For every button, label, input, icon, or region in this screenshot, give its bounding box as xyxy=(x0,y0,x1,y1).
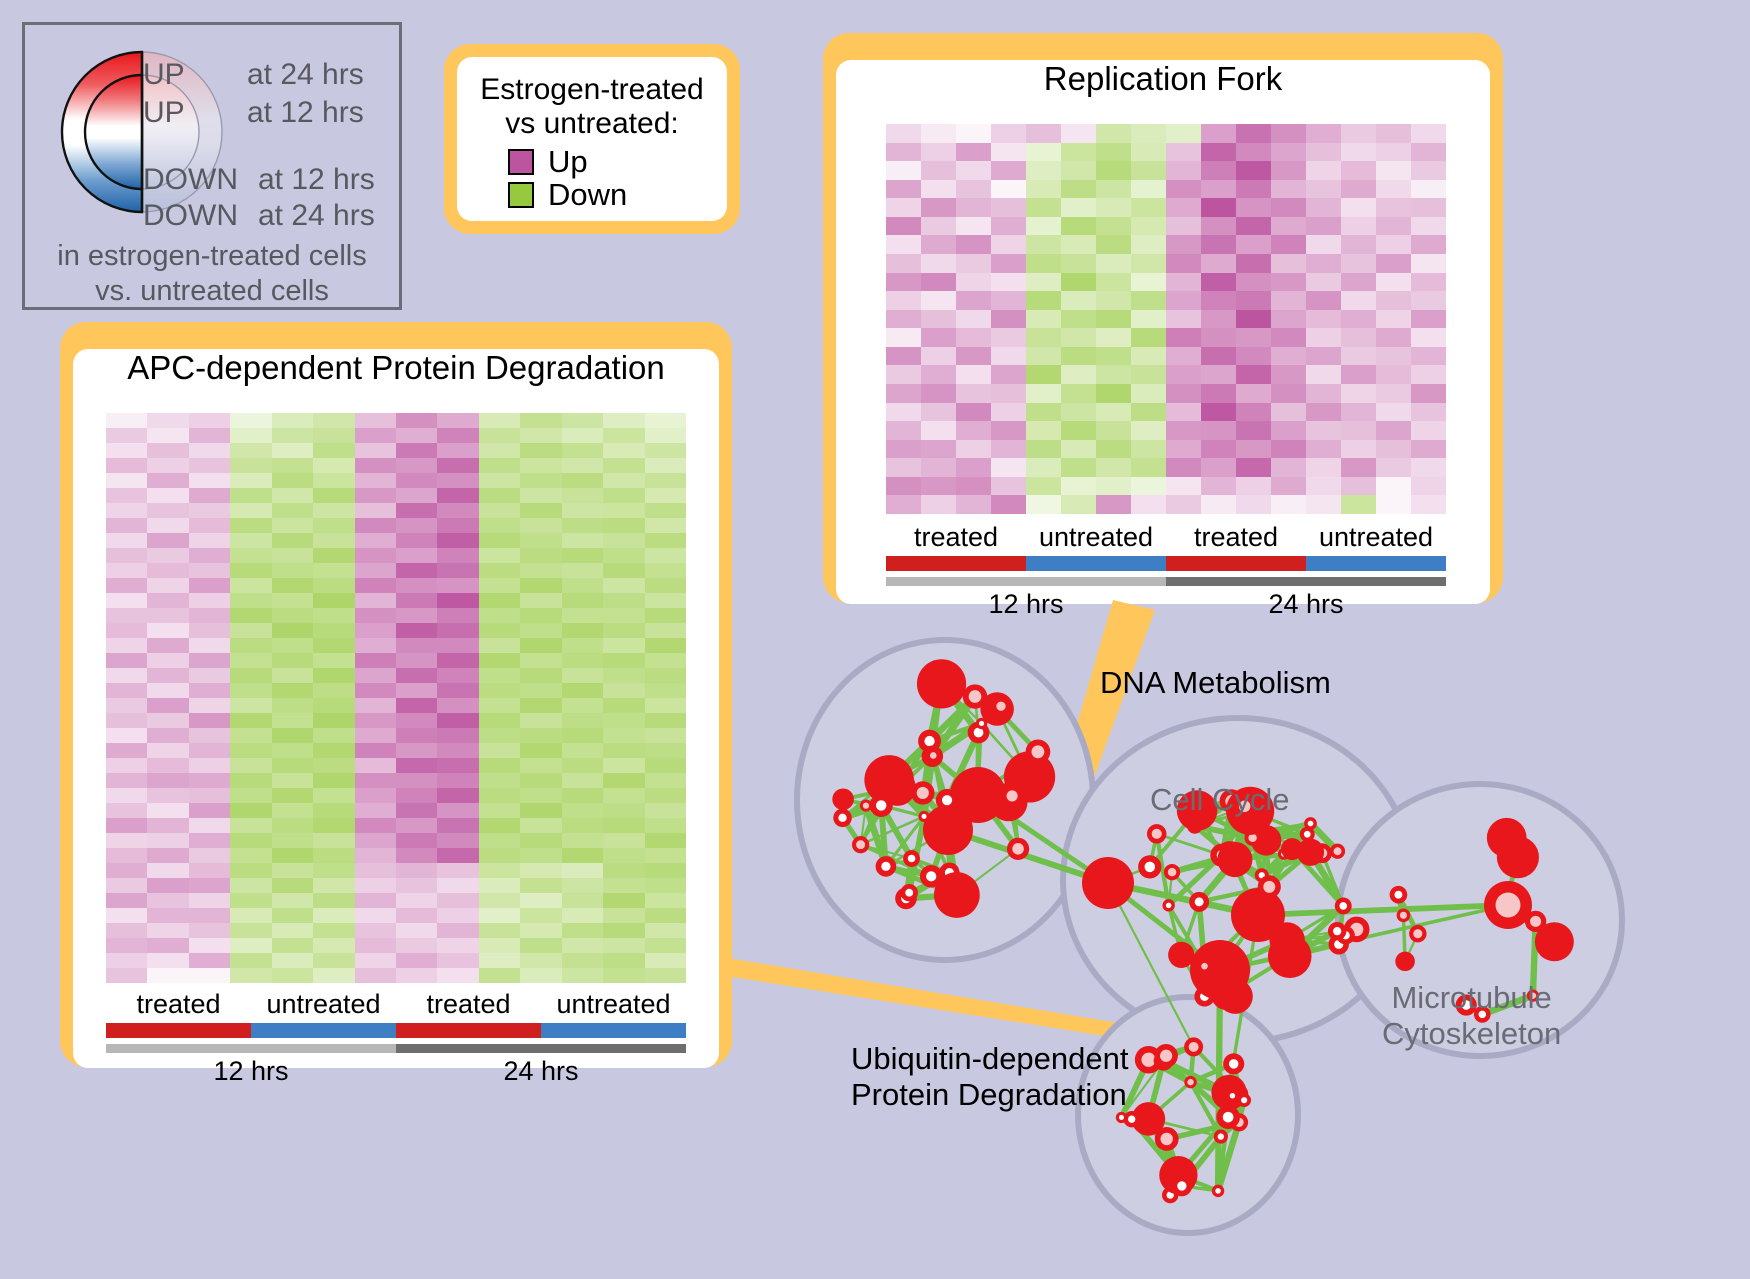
heatmap-cell xyxy=(106,788,147,803)
heatmap-cell xyxy=(272,533,313,548)
heatmap-cell xyxy=(1306,384,1341,403)
heatmap-cell xyxy=(437,488,478,503)
network-node[interactable] xyxy=(1189,892,1209,912)
heatmap-cell xyxy=(1026,254,1061,273)
heatmap-cell xyxy=(562,443,603,458)
heatmap-cell xyxy=(230,428,271,443)
network-node[interactable] xyxy=(1082,857,1134,909)
heatmap-cell xyxy=(147,683,188,698)
heatmap-cell xyxy=(645,953,686,968)
network-node[interactable] xyxy=(936,789,959,812)
network-node[interactable] xyxy=(879,769,916,806)
network-node[interactable] xyxy=(976,718,987,729)
network-node[interactable] xyxy=(917,659,966,708)
heatmap-cell xyxy=(562,593,603,608)
heatmap-cell xyxy=(562,488,603,503)
heatmap-cell xyxy=(272,938,313,953)
heatmap-cell xyxy=(189,413,230,428)
heatmap-cell xyxy=(355,608,396,623)
heatmap-cell xyxy=(313,413,354,428)
network-node[interactable] xyxy=(918,811,929,822)
network-node[interactable] xyxy=(1281,838,1303,860)
heatmap-cell xyxy=(437,938,478,953)
heatmap-cell xyxy=(479,728,520,743)
network-node[interactable] xyxy=(876,856,897,877)
heatmap-cell xyxy=(313,668,354,683)
heatmap-cell xyxy=(396,428,437,443)
legend-title-line1: Estrogen-treated xyxy=(457,73,727,107)
heatmap-cell xyxy=(886,198,921,217)
network-node[interactable] xyxy=(1147,824,1166,843)
heatmap-cell xyxy=(886,180,921,199)
heatmap-cell xyxy=(1236,124,1271,143)
network-node[interactable] xyxy=(1155,1127,1179,1151)
network-node[interactable] xyxy=(1026,739,1051,764)
apc-treatment-labels: treateduntreatedtreateduntreated xyxy=(106,989,686,1020)
heatmap-cell xyxy=(645,818,686,833)
heatmap-cell xyxy=(147,893,188,908)
heatmap-cell xyxy=(603,743,644,758)
heatmap-cell xyxy=(189,443,230,458)
heatmap-cell xyxy=(1026,291,1061,310)
heatmap-cell xyxy=(396,728,437,743)
heatmap-cell xyxy=(1131,273,1166,292)
heatmap-cell xyxy=(1166,458,1201,477)
network-node[interactable] xyxy=(1164,864,1180,880)
heatmap-cell xyxy=(396,743,437,758)
heatmap-cell xyxy=(603,818,644,833)
network-node[interactable] xyxy=(1154,1044,1178,1068)
heatmap-cell xyxy=(437,713,478,728)
network-node[interactable] xyxy=(1007,838,1029,860)
heatmap-cell xyxy=(1131,347,1166,366)
heatmap-cell xyxy=(437,458,478,473)
heatmap-cell xyxy=(886,328,921,347)
heatmap-cell xyxy=(1411,310,1446,329)
heatmap-cell xyxy=(1271,384,1306,403)
heatmap-cell xyxy=(189,803,230,818)
heatmap-cell xyxy=(562,848,603,863)
heatmap-cell xyxy=(603,728,644,743)
heatmap-cell xyxy=(355,638,396,653)
wheel-row-3-time: at 24 hrs xyxy=(258,199,375,233)
heatmap-cell xyxy=(886,310,921,329)
heatmap-cell xyxy=(437,743,478,758)
network-node[interactable] xyxy=(1395,952,1415,972)
heatmap-cell xyxy=(479,653,520,668)
heatmap-cell xyxy=(603,863,644,878)
heatmap-cell xyxy=(520,923,561,938)
network-node[interactable] xyxy=(1328,922,1346,940)
heatmap-cell xyxy=(562,803,603,818)
heatmap-cell xyxy=(479,938,520,953)
heatmap-cell xyxy=(1166,124,1201,143)
heatmap-cell xyxy=(645,893,686,908)
heatmap-cell xyxy=(189,503,230,518)
heatmap-cell xyxy=(189,473,230,488)
network-node[interactable] xyxy=(832,788,854,810)
heatmap-cell xyxy=(520,968,561,983)
heatmap-cell xyxy=(991,124,1026,143)
heatmap-cell xyxy=(520,953,561,968)
heatmap-cell xyxy=(645,713,686,728)
heatmap-cell xyxy=(147,803,188,818)
legend-swatch-down-icon xyxy=(508,182,534,208)
heatmap-cell xyxy=(1236,458,1271,477)
heatmap-cell xyxy=(886,235,921,254)
cluster-label-cell-cycle: Cell Cycle xyxy=(1150,782,1290,818)
heatmap-cell xyxy=(1096,217,1131,236)
heatmap-cell xyxy=(396,968,437,983)
network-node[interactable] xyxy=(1226,1090,1238,1102)
heatmap-cell xyxy=(1061,477,1096,496)
network-node[interactable] xyxy=(1214,1130,1228,1144)
heatmap-cell xyxy=(396,548,437,563)
heatmap-cell xyxy=(147,908,188,923)
network-node[interactable] xyxy=(1216,1105,1240,1129)
time-label: 24 hrs xyxy=(396,1056,686,1087)
heatmap-cell xyxy=(991,143,1026,162)
heatmap-cell xyxy=(230,593,271,608)
heatmap-cell xyxy=(230,638,271,653)
heatmap-cell xyxy=(1376,440,1411,459)
heatmap-cell xyxy=(1061,180,1096,199)
time-label: 12 hrs xyxy=(106,1056,396,1087)
heatmap-cell xyxy=(603,848,644,863)
network-node[interactable] xyxy=(1116,1112,1127,1123)
heatmap-cell xyxy=(272,593,313,608)
heatmap-cell xyxy=(1096,124,1131,143)
heatmap-cell xyxy=(1236,310,1271,329)
heatmap-cell xyxy=(147,653,188,668)
heatmap-cell xyxy=(645,533,686,548)
heatmap-cell xyxy=(645,803,686,818)
heatmap-cell xyxy=(1131,198,1166,217)
network-node[interactable] xyxy=(1198,960,1211,973)
heatmap-cell xyxy=(1201,235,1236,254)
heatmap-cell xyxy=(1096,180,1131,199)
heatmap-cell xyxy=(230,533,271,548)
heatmap-cell xyxy=(886,143,921,162)
heatmap-cell xyxy=(479,578,520,593)
network-node[interactable] xyxy=(927,749,940,762)
heatmap-cell xyxy=(562,518,603,533)
heatmap-cell xyxy=(886,347,921,366)
network-node[interactable] xyxy=(1217,842,1252,877)
heatmap-cell xyxy=(1061,310,1096,329)
heatmap-cell xyxy=(106,878,147,893)
heatmap-cell xyxy=(313,953,354,968)
network-node[interactable] xyxy=(1390,886,1408,904)
network-node[interactable] xyxy=(901,884,918,901)
network-node[interactable] xyxy=(992,697,1010,715)
heatmap-cell xyxy=(1201,328,1236,347)
heatmap-cell xyxy=(1271,198,1306,217)
network-node[interactable] xyxy=(1001,785,1022,806)
heatmap-cell xyxy=(645,683,686,698)
heatmap-cell xyxy=(106,863,147,878)
network-node[interactable] xyxy=(1138,855,1161,878)
heatmap-cell xyxy=(645,908,686,923)
heatmap-cell xyxy=(355,683,396,698)
heatmap-cell xyxy=(1201,291,1236,310)
heatmap-cell xyxy=(230,908,271,923)
heatmap-cell xyxy=(355,953,396,968)
network-node[interactable] xyxy=(1184,1037,1203,1056)
heatmap-cell xyxy=(1236,328,1271,347)
heatmap-cell xyxy=(147,548,188,563)
heatmap-cell xyxy=(189,578,230,593)
network-node[interactable] xyxy=(963,684,987,708)
heatmap-cell xyxy=(1201,254,1236,273)
updown-legend-panel: Estrogen-treated vs untreated: Up Down xyxy=(444,44,740,234)
heatmap-cell xyxy=(272,713,313,728)
heatmap-cell xyxy=(147,863,188,878)
heatmap-cell xyxy=(1236,495,1271,514)
network-node[interactable] xyxy=(1212,1185,1224,1197)
heatmap-cell xyxy=(437,533,478,548)
heatmap-cell xyxy=(1306,161,1341,180)
heatmap-cell xyxy=(396,923,437,938)
heatmap-cell xyxy=(520,413,561,428)
network-node[interactable] xyxy=(1487,818,1527,858)
heatmap-cell xyxy=(147,428,188,443)
heatmap-cell xyxy=(313,833,354,848)
heatmap-cell xyxy=(272,608,313,623)
network-node[interactable] xyxy=(1237,1093,1251,1107)
heatmap-cell xyxy=(956,161,991,180)
heatmap-cell xyxy=(645,473,686,488)
heatmap-cell xyxy=(272,683,313,698)
heatmap-cell xyxy=(1061,273,1096,292)
heatmap-cell xyxy=(1026,198,1061,217)
wheel-row-2-time: at 12 hrs xyxy=(258,163,375,197)
network-node[interactable] xyxy=(923,805,973,855)
heatmap-cell xyxy=(272,413,313,428)
heatmap-cell xyxy=(1341,421,1376,440)
heatmap-cell xyxy=(1306,310,1341,329)
treatment-bar-segment xyxy=(106,1023,251,1038)
heatmap-cell xyxy=(479,668,520,683)
heatmap-cell xyxy=(1166,328,1201,347)
heatmap-cell xyxy=(886,384,921,403)
heatmap-cell xyxy=(645,578,686,593)
heatmap-cell xyxy=(1201,477,1236,496)
wheel-row-0-direction: UP xyxy=(143,58,185,92)
network-node[interactable] xyxy=(1168,942,1194,968)
heatmap-cell xyxy=(479,893,520,908)
heatmap-cell xyxy=(1061,421,1096,440)
heatmap-cell xyxy=(956,217,991,236)
wheel-row-1-direction: UP xyxy=(143,96,185,130)
heatmap-cell xyxy=(189,923,230,938)
heatmap-cell xyxy=(1411,477,1446,496)
heatmap-cell xyxy=(396,713,437,728)
heatmap-cell xyxy=(1201,347,1236,366)
treatment-label: treated xyxy=(886,522,1026,553)
heatmap-cell xyxy=(562,833,603,848)
heatmap-cell xyxy=(886,440,921,459)
heatmap-cell xyxy=(355,473,396,488)
network-node[interactable] xyxy=(934,872,980,918)
heatmap-cell xyxy=(106,488,147,503)
heatmap-cell xyxy=(313,683,354,698)
heatmap-cell xyxy=(437,623,478,638)
heatmap-cell xyxy=(991,347,1026,366)
heatmap-cell xyxy=(272,638,313,653)
heatmap-cell xyxy=(1306,403,1341,422)
heatmap-cell xyxy=(562,653,603,668)
heatmap-cell xyxy=(396,683,437,698)
heatmap-cell xyxy=(1271,291,1306,310)
heatmap-cell xyxy=(313,593,354,608)
heatmap-cell xyxy=(230,803,271,818)
heatmap-cell xyxy=(1201,421,1236,440)
heatmap-cell xyxy=(886,421,921,440)
heatmap-cell xyxy=(230,758,271,773)
heatmap-cell xyxy=(189,953,230,968)
network-node[interactable] xyxy=(1258,875,1281,898)
heatmap-cell xyxy=(921,254,956,273)
heatmap-cell xyxy=(956,254,991,273)
heatmap-cell xyxy=(355,923,396,938)
network-node[interactable] xyxy=(1184,1076,1196,1088)
heatmap-cell xyxy=(1131,161,1166,180)
heatmap-cell xyxy=(106,698,147,713)
heatmap-cell xyxy=(1026,440,1061,459)
heatmap-cell xyxy=(147,713,188,728)
heatmap-cell xyxy=(230,473,271,488)
heatmap-cell xyxy=(991,365,1026,384)
heatmap-cell xyxy=(921,347,956,366)
heatmap-cell xyxy=(313,908,354,923)
network-node[interactable] xyxy=(833,809,852,828)
heatmap-cell xyxy=(106,458,147,473)
heatmap-cell xyxy=(603,533,644,548)
heatmap-cell xyxy=(437,908,478,923)
network-node[interactable] xyxy=(1330,844,1345,859)
heatmap-cell xyxy=(645,548,686,563)
heatmap-cell xyxy=(1201,384,1236,403)
heatmap-cell xyxy=(1061,458,1096,477)
heatmap-cell xyxy=(272,563,313,578)
heatmap-cell xyxy=(396,518,437,533)
network-node[interactable] xyxy=(903,850,920,867)
network-node[interactable] xyxy=(1223,1053,1244,1074)
heatmap-cell xyxy=(1131,421,1166,440)
heatmap-cell xyxy=(479,818,520,833)
network-node[interactable] xyxy=(1535,922,1574,961)
heatmap-cell xyxy=(921,161,956,180)
heatmap-cell xyxy=(437,593,478,608)
heatmap-cell xyxy=(437,653,478,668)
heatmap-cell xyxy=(230,848,271,863)
heatmap-cell xyxy=(313,713,354,728)
heatmap-cell xyxy=(1376,161,1411,180)
heatmap-cell xyxy=(1376,180,1411,199)
heatmap-cell xyxy=(355,968,396,983)
heatmap-cell xyxy=(1166,365,1201,384)
network-node[interactable] xyxy=(852,836,869,853)
heatmap-cell xyxy=(645,653,686,668)
heatmap-cell xyxy=(396,893,437,908)
heatmap-cell xyxy=(1411,124,1446,143)
network-node[interactable] xyxy=(1409,925,1426,942)
heatmap-cell xyxy=(603,908,644,923)
heatmap-cell xyxy=(1411,291,1446,310)
network-node[interactable] xyxy=(1162,899,1174,911)
heatmap-cell xyxy=(956,273,991,292)
network-node[interactable] xyxy=(1397,908,1411,922)
heatmap-cell xyxy=(147,833,188,848)
heatmap-cell xyxy=(645,668,686,683)
heatmap-cell xyxy=(1376,291,1411,310)
heatmap-cell xyxy=(1341,328,1376,347)
heatmap-cell xyxy=(1096,254,1131,273)
heatmap-cell xyxy=(645,563,686,578)
network-node[interactable] xyxy=(1218,979,1253,1014)
heatmap-cell xyxy=(603,443,644,458)
network-node[interactable] xyxy=(1171,1175,1192,1196)
heatmap-cell xyxy=(1166,217,1201,236)
network-node[interactable] xyxy=(1335,897,1352,914)
heatmap-cell xyxy=(396,608,437,623)
heatmap-cell xyxy=(355,578,396,593)
heatmap-cell xyxy=(1341,477,1376,496)
heatmap-cell xyxy=(1061,495,1096,514)
network-node[interactable] xyxy=(1484,881,1532,929)
time-bar-segment xyxy=(106,1044,396,1053)
treatment-bar-segment xyxy=(886,556,1026,571)
heatmap-cell xyxy=(645,638,686,653)
heatmap-cell xyxy=(1341,254,1376,273)
heatmap-cell xyxy=(1166,254,1201,273)
heatmap-cell xyxy=(313,503,354,518)
heatmap-cell xyxy=(603,683,644,698)
treatment-label: untreated xyxy=(541,989,686,1020)
heatmap-cell xyxy=(1026,477,1061,496)
heatmap-cell xyxy=(437,773,478,788)
network-node[interactable] xyxy=(1269,922,1304,957)
heatmap-cell xyxy=(396,803,437,818)
treatment-label: treated xyxy=(396,989,541,1020)
heatmap-cell xyxy=(1411,328,1446,347)
heatmap-cell xyxy=(189,593,230,608)
heatmap-cell xyxy=(921,235,956,254)
heatmap-cell xyxy=(189,893,230,908)
heatmap-cell xyxy=(886,403,921,422)
heatmap-cell xyxy=(272,458,313,473)
heatmap-cell xyxy=(479,683,520,698)
heatmap-cell xyxy=(1306,291,1341,310)
heatmap-cell xyxy=(313,848,354,863)
heatmap-cell xyxy=(355,503,396,518)
heatmap-cell xyxy=(437,503,478,518)
heatmap-cell xyxy=(230,863,271,878)
heatmap-cell xyxy=(1376,273,1411,292)
heatmap-cell xyxy=(1341,180,1376,199)
heatmap-cell xyxy=(1341,403,1376,422)
heatmap-cell xyxy=(603,833,644,848)
heatmap-cell xyxy=(645,458,686,473)
heatmap-cell xyxy=(991,421,1026,440)
heatmap-cell xyxy=(1306,254,1341,273)
heatmap-cell xyxy=(1376,495,1411,514)
heatmap-cell xyxy=(1271,273,1306,292)
color-wheel-legend: UP at 24 hrs UP at 12 hrs DOWN at 12 hrs… xyxy=(22,22,402,310)
heatmap-cell xyxy=(1201,403,1236,422)
heatmap-cell xyxy=(1341,143,1376,162)
